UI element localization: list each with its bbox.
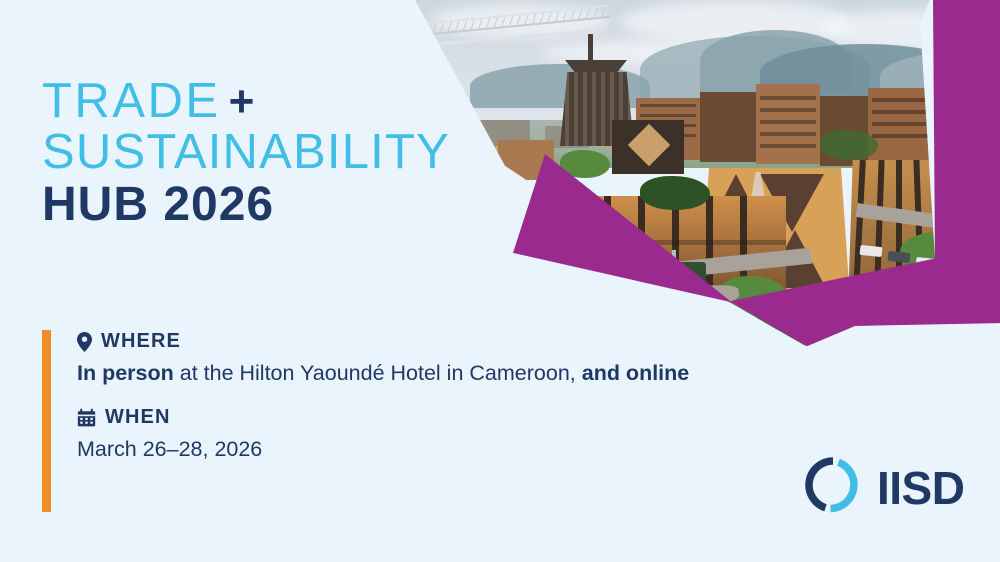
window-row — [640, 114, 696, 117]
window-row — [760, 132, 816, 136]
event-promo-banner: TRADE+ SUSTAINABILITY HUB 2026 WHERE In … — [0, 0, 1000, 562]
iisd-logo: IISD — [803, 455, 964, 520]
window-row — [872, 122, 934, 126]
window-row — [640, 104, 696, 107]
building — [636, 98, 700, 160]
car — [888, 251, 911, 263]
car — [611, 300, 637, 315]
where-text-bold-1: In person — [77, 361, 174, 385]
ribbed-roof — [556, 196, 786, 292]
plus-glyph: + — [221, 77, 255, 126]
window-row — [640, 124, 696, 127]
crane-cable — [428, 29, 598, 47]
road — [612, 248, 813, 285]
window-row — [872, 98, 934, 102]
hill — [880, 52, 1000, 102]
hill — [760, 44, 970, 102]
window-row — [640, 134, 696, 137]
building — [498, 140, 554, 180]
foliage — [640, 176, 710, 210]
when-label: WHEN — [105, 406, 171, 429]
window-row — [872, 134, 934, 138]
title-sustainability: SUSTAINABILITY — [42, 127, 450, 178]
cloud — [820, 10, 1000, 50]
hill — [640, 36, 870, 104]
where-text: In person at the Hilton Yaoundé Hotel in… — [77, 359, 689, 388]
foliage — [900, 232, 990, 278]
car — [944, 263, 967, 275]
when-group: WHEN March 26–28, 2026 — [77, 406, 689, 464]
window-row — [760, 108, 816, 112]
iisd-ring-icon — [803, 455, 863, 520]
car — [916, 257, 939, 269]
foliage — [560, 150, 610, 178]
foliage — [690, 288, 786, 344]
where-heading: WHERE — [77, 330, 689, 353]
pavilion-roof — [640, 262, 706, 286]
iisd-wordmark: IISD — [877, 465, 964, 511]
foliage — [716, 276, 790, 324]
road — [856, 203, 987, 235]
title-line-1: TRADE+ — [42, 76, 450, 127]
landmark-tower — [560, 72, 634, 146]
calendar-icon — [77, 408, 96, 427]
chevron-facade-building — [700, 168, 850, 298]
event-details: WHERE In person at the Hilton Yaoundé Ho… — [42, 330, 689, 512]
hill — [470, 64, 650, 108]
window-row — [872, 110, 934, 114]
cloud — [430, 4, 610, 38]
cloud — [620, 0, 850, 44]
title-hub-2026: HUB 2026 — [42, 180, 450, 230]
window-row — [760, 96, 816, 100]
building — [756, 84, 820, 164]
distant-building — [545, 126, 589, 148]
hill — [700, 30, 850, 92]
diamond-facade-detail — [628, 124, 670, 166]
pavilion-wall — [646, 282, 700, 294]
foliage — [756, 300, 846, 350]
car — [860, 245, 883, 257]
foliage — [500, 210, 590, 270]
window-row — [760, 120, 816, 124]
ribbed-tower — [848, 160, 966, 308]
foliage — [820, 130, 878, 160]
distant-building — [600, 124, 634, 148]
cloud — [540, 40, 800, 66]
title-trade: TRADE — [42, 74, 221, 128]
window-row — [760, 144, 816, 148]
where-text-mid: at the Hilton Yaoundé Hotel in Cameroon, — [174, 361, 582, 385]
page-title: TRADE+ SUSTAINABILITY HUB 2026 — [42, 76, 450, 230]
distant-building — [470, 120, 530, 148]
building — [612, 120, 684, 174]
distant-building — [860, 118, 930, 148]
where-text-bold-2: and online — [582, 361, 690, 385]
car — [603, 286, 627, 300]
foliage — [470, 182, 530, 224]
where-label: WHERE — [101, 330, 181, 353]
when-value: March 26–28, 2026 — [77, 435, 689, 464]
building — [868, 88, 938, 164]
tower-antenna — [588, 34, 593, 64]
foliage — [940, 186, 1000, 230]
map-pin-icon — [77, 332, 92, 352]
car — [565, 264, 587, 278]
when-heading: WHEN — [77, 406, 689, 429]
building — [700, 92, 756, 162]
tower-crown — [565, 60, 627, 74]
parking-lot — [589, 279, 741, 331]
crane-jib — [420, 5, 610, 36]
car — [585, 276, 607, 290]
building — [820, 96, 868, 166]
where-group: WHERE In person at the Hilton Yaoundé Ho… — [77, 330, 689, 388]
